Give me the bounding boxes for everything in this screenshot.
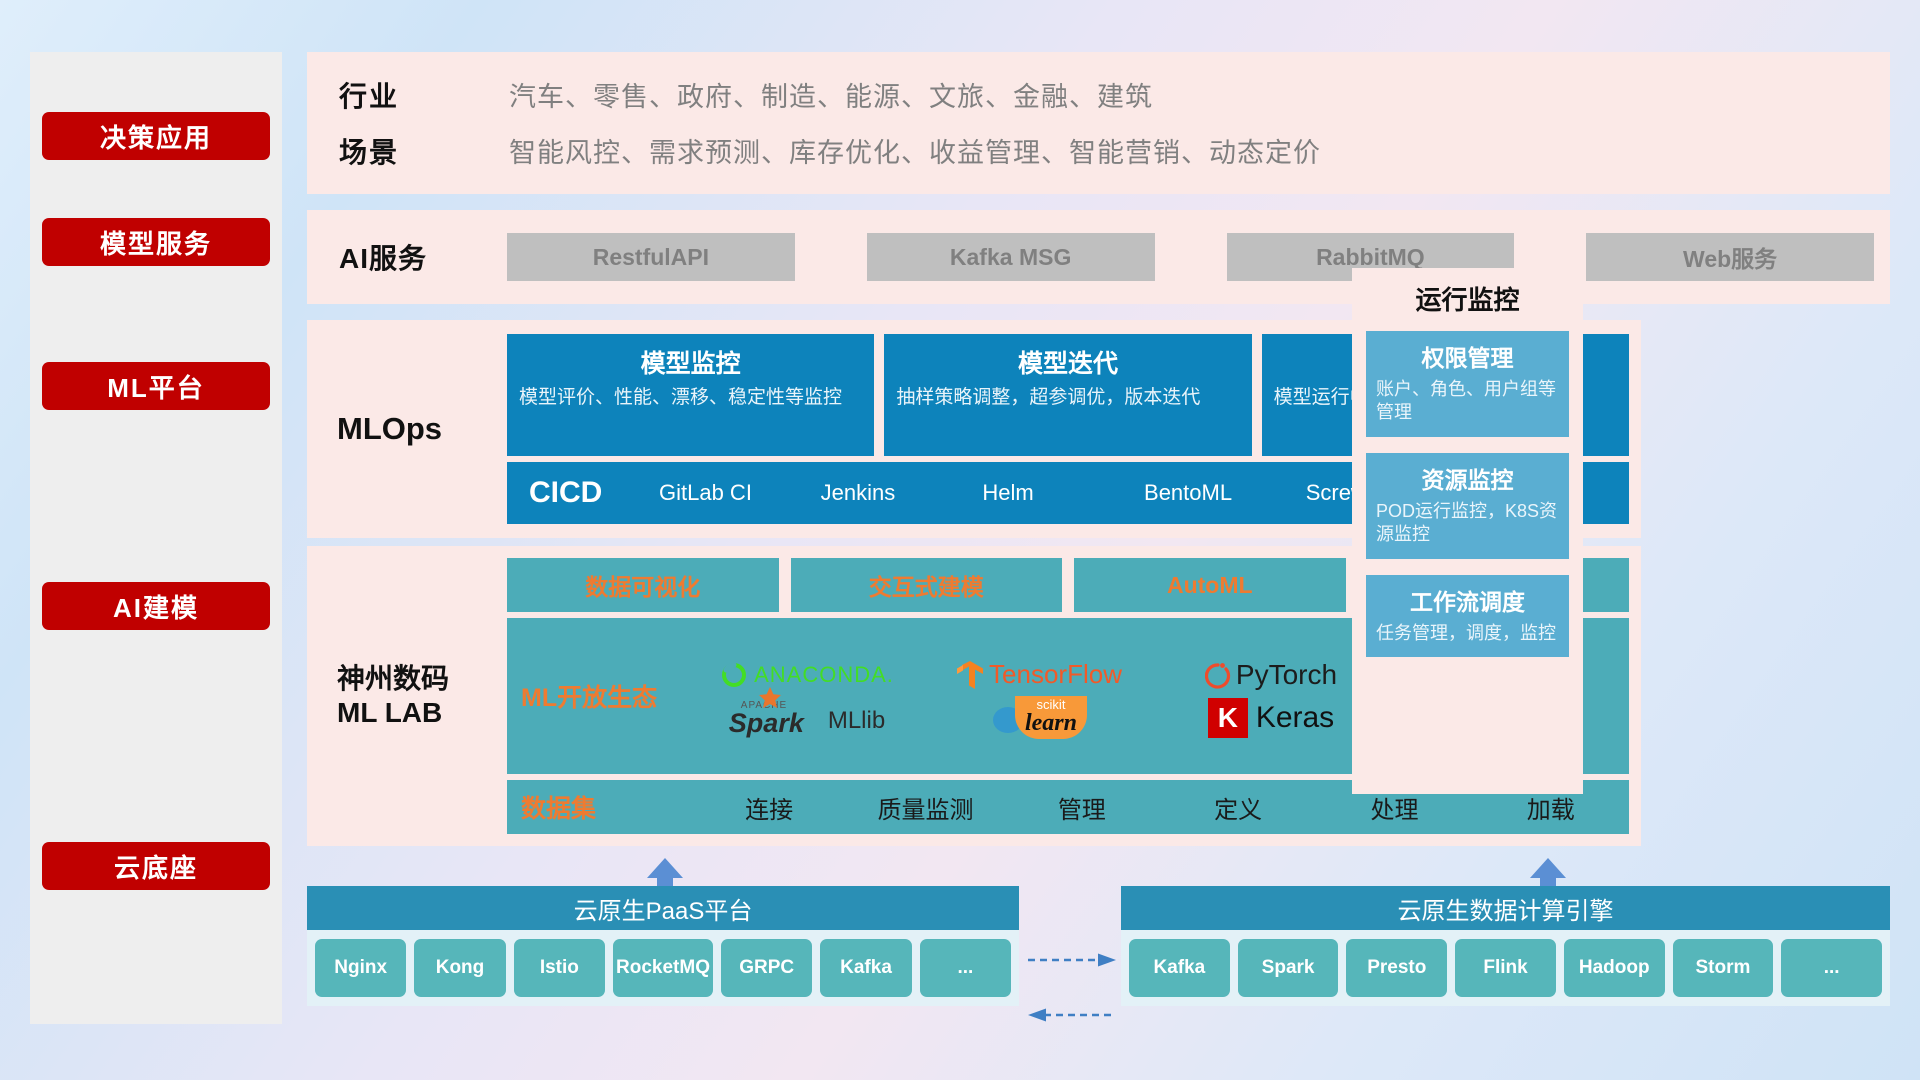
pytorch-logo: PyTorch: [1205, 659, 1337, 691]
engine-chip-hadoop[interactable]: Hadoop: [1564, 939, 1665, 997]
stage-chip-label: AI建模: [113, 588, 199, 625]
ai-service-chip-kafka-msg[interactable]: Kafka MSG: [867, 233, 1155, 281]
dataset-item-connect[interactable]: 连接: [691, 790, 847, 825]
cloud-native-paas-block: 云原生PaaS平台 Nginx Kong Istio RocketMQ GRPC…: [307, 886, 1019, 1006]
stage-chip-label: ML平台: [107, 368, 205, 405]
engine-chip-presto[interactable]: Presto: [1346, 939, 1447, 997]
engine-chip-storm[interactable]: Storm: [1673, 939, 1774, 997]
stage-chip-ai-modeling[interactable]: AI建模: [42, 582, 270, 630]
spark-mllib-logo: APACHE Spark MLlib: [729, 700, 885, 735]
ml-open-ecosystem-label: ML开放生态: [521, 678, 691, 714]
ai-service-items: RestfulAPI Kafka MSG RabbitMQ Web服务: [507, 233, 1874, 281]
ai-service-chip-restfulapi[interactable]: RestfulAPI: [507, 233, 795, 281]
cloud-chip-kafka[interactable]: Kafka: [820, 939, 911, 997]
stage-chip-label: 决策应用: [100, 118, 212, 155]
mlops-card-model-iteration[interactable]: 模型迭代 抽样策略调整，超参调优，版本迭代: [884, 334, 1251, 456]
stage-chip-label: 模型服务: [100, 224, 212, 261]
cicd-item-jenkins[interactable]: Jenkins: [821, 480, 983, 505]
cloud-native-paas-title: 云原生PaaS平台: [307, 886, 1019, 930]
dataset-item-process[interactable]: 处理: [1316, 790, 1472, 825]
engine-chip-flink[interactable]: Flink: [1455, 939, 1556, 997]
industry-line: 行业 汽车、零售、政府、制造、能源、文旅、金融、建筑: [339, 75, 1321, 115]
runtime-monitoring-title: 运行监控: [1366, 280, 1569, 317]
cloud-native-data-engine-title: 云原生数据计算引擎: [1121, 886, 1890, 930]
monitoring-card-resource[interactable]: 资源监控 POD运行监控，K8S资源监控: [1366, 453, 1569, 559]
mlops-card-desc: 抽样策略调整，超参调优，版本迭代: [896, 386, 1239, 410]
ml-lab-label-line2: ML LAB: [337, 696, 507, 730]
tool-chip-interactive-modeling[interactable]: 交互式建模: [791, 558, 1063, 612]
ml-lab-label: 神州数码 ML LAB: [337, 558, 507, 834]
cicd-item-gitlab-ci[interactable]: GitLab CI: [659, 480, 821, 505]
cicd-item-bentoml[interactable]: BentoML: [1144, 480, 1306, 505]
monitoring-card-desc: POD运行监控，K8S资源监控: [1376, 500, 1559, 547]
dataset-items: 连接 质量监测 管理 定义 处理 加载: [691, 790, 1629, 825]
engine-chip-spark[interactable]: Spark: [1238, 939, 1339, 997]
mlops-card-model-monitoring[interactable]: 模型监控 模型评价、性能、漂移、稳定性等监控: [507, 334, 874, 456]
ai-service-chip-web-service[interactable]: Web服务: [1586, 233, 1874, 281]
runtime-monitoring-panel: 运行监控 权限管理 账户、角色、用户组等管理 资源监控 POD运行监控，K8S资…: [1352, 268, 1583, 794]
scikit-learn-logo: scikit learn: [991, 696, 1087, 739]
cicd-item-helm[interactable]: Helm: [982, 480, 1144, 505]
cloud-chip-more[interactable]: ...: [920, 939, 1011, 997]
ai-service-band: AI服务 RestfulAPI Kafka MSG RabbitMQ Web服务: [307, 210, 1890, 304]
dataset-title: 数据集: [521, 789, 691, 825]
keras-logo: K Keras: [1208, 698, 1334, 738]
ml-lab-label-line1: 神州数码: [337, 662, 507, 696]
monitoring-card-permission[interactable]: 权限管理 账户、角色、用户组等管理: [1366, 331, 1569, 437]
cloud-chip-rocketmq[interactable]: RocketMQ: [613, 939, 713, 997]
dataset-item-define[interactable]: 定义: [1160, 790, 1316, 825]
engine-chip-kafka[interactable]: Kafka: [1129, 939, 1230, 997]
mlops-label: MLOps: [337, 334, 507, 524]
stage-chip-model-service[interactable]: 模型服务: [42, 218, 270, 266]
stage-chip-label: 云底座: [114, 848, 198, 885]
cicd-title: CICD: [529, 476, 659, 510]
anaconda-logo: ANACONDA.: [720, 661, 894, 689]
mlops-card-desc: 模型评价、性能、漂移、稳定性等监控: [519, 386, 862, 410]
cloud-native-paas-chips: Nginx Kong Istio RocketMQ GRPC Kafka ...: [307, 930, 1019, 1006]
ai-service-label: AI服务: [339, 237, 507, 277]
dataset-item-quality-monitor[interactable]: 质量监测: [847, 790, 1003, 825]
cloud-native-data-engine-block: 云原生数据计算引擎 Kafka Spark Presto Flink Hadoo…: [1121, 886, 1890, 1006]
tool-chip-data-visualization[interactable]: 数据可视化: [507, 558, 779, 612]
right-arrow-icon: [1028, 953, 1116, 967]
mlops-card-title: 模型监控: [519, 344, 862, 380]
monitoring-card-desc: 账户、角色、用户组等管理: [1376, 378, 1559, 425]
mlops-card-title: 模型迭代: [896, 344, 1239, 380]
stage-chip-ml-platform[interactable]: ML平台: [42, 362, 270, 410]
stage-chip-cloud-base[interactable]: 云底座: [42, 842, 270, 890]
cloud-chip-istio[interactable]: Istio: [514, 939, 605, 997]
dataset-item-manage[interactable]: 管理: [1004, 790, 1160, 825]
scenario-key: 场景: [339, 131, 509, 171]
stage-rail: 决策应用 模型服务 ML平台 AI建模 云底座: [30, 52, 282, 1024]
monitoring-card-title: 资源监控: [1376, 461, 1559, 495]
industry-scenario-band: 行业 汽车、零售、政府、制造、能源、文旅、金融、建筑 场景 智能风控、需求预测、…: [307, 52, 1890, 194]
industry-table: 行业 汽车、零售、政府、制造、能源、文旅、金融、建筑 场景 智能风控、需求预测、…: [339, 75, 1321, 171]
scenario-line: 场景 智能风控、需求预测、库存优化、收益管理、智能营销、动态定价: [339, 131, 1321, 171]
cloud-chip-nginx[interactable]: Nginx: [315, 939, 406, 997]
monitoring-card-title: 权限管理: [1376, 339, 1559, 373]
industry-value: 汽车、零售、政府、制造、能源、文旅、金融、建筑: [509, 75, 1153, 114]
engine-chip-more[interactable]: ...: [1781, 939, 1882, 997]
cloud-chip-grpc[interactable]: GRPC: [721, 939, 812, 997]
monitoring-card-title: 工作流调度: [1376, 583, 1559, 617]
left-arrow-icon: [1028, 1008, 1116, 1022]
tensorflow-logo: TensorFlow: [956, 659, 1122, 690]
scenario-value: 智能风控、需求预测、库存优化、收益管理、智能营销、动态定价: [509, 131, 1321, 170]
industry-key: 行业: [339, 75, 509, 115]
monitoring-card-desc: 任务管理，调度，监控: [1376, 622, 1559, 645]
cloud-chip-kong[interactable]: Kong: [414, 939, 505, 997]
monitoring-card-workflow[interactable]: 工作流调度 任务管理，调度，监控: [1366, 575, 1569, 657]
dataset-item-load[interactable]: 加载: [1473, 790, 1629, 825]
stage-chip-decision[interactable]: 决策应用: [42, 112, 270, 160]
cloud-native-data-engine-chips: Kafka Spark Presto Flink Hadoop Storm ..…: [1121, 930, 1890, 1006]
tool-chip-automl[interactable]: AutoML: [1074, 558, 1346, 612]
